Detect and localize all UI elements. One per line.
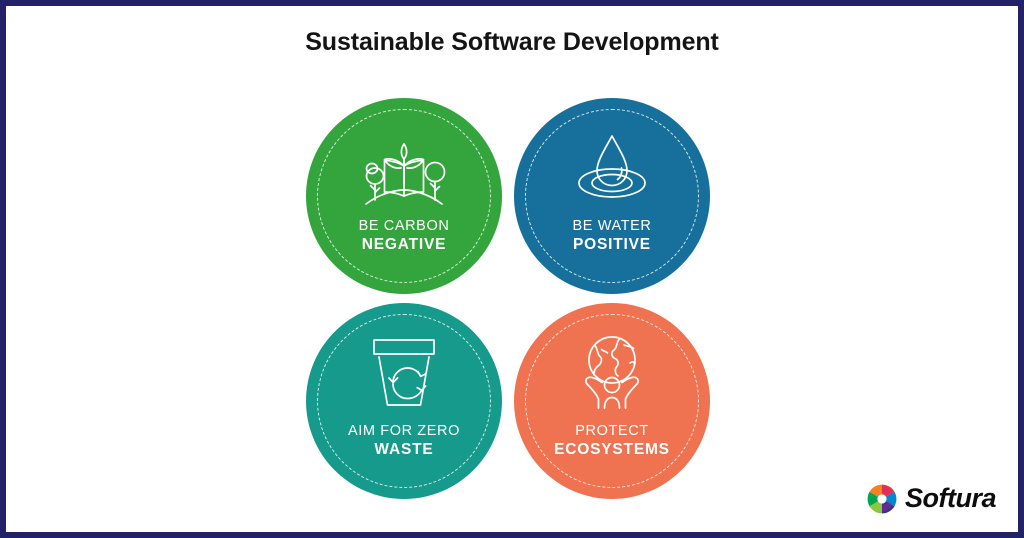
pillar-label-bottom: NEGATIVE [359,236,450,253]
pillar-label-bottom: ECOSYSTEMS [554,441,670,458]
pillar-labels: PROTECT ECOSYSTEMS [554,423,670,459]
pillars-grid: BE CARBON NEGATIVE BE WATER [300,92,716,502]
pillar-card-be-water-positive[interactable]: BE WATER POSITIVE [514,98,710,294]
softura-wordmark: Softura [905,483,996,514]
pillar-labels: AIM FOR ZERO WASTE [348,423,460,459]
pillar-label-bottom: POSITIVE [573,236,652,253]
pillar-card-aim-for-zero-waste[interactable]: AIM FOR ZERO WASTE [306,303,502,499]
pillar-label-bottom: WASTE [348,441,460,458]
softura-aperture-icon [867,484,897,514]
page-title: Sustainable Software Development [6,28,1018,57]
pillar-label-top: PROTECT [554,423,670,439]
pillar-labels: BE CARBON NEGATIVE [359,218,450,254]
pillar-label-top: AIM FOR ZERO [348,423,460,439]
water-droplet-ripple-icon [564,124,660,212]
book-sprout-trees-icon [356,124,452,212]
pillar-label-top: BE CARBON [359,218,450,234]
slide-canvas: Sustainable Software Development [0,0,1024,538]
pillar-card-be-carbon-negative[interactable]: BE CARBON NEGATIVE [306,98,502,294]
recycling-bin-icon [356,329,452,417]
pillar-labels: BE WATER POSITIVE [573,218,652,254]
pillar-card-protect-ecosystems[interactable]: PROTECT ECOSYSTEMS [514,303,710,499]
pillar-label-top: BE WATER [573,218,652,234]
softura-logo[interactable]: Softura [867,483,996,514]
hands-holding-globe-icon [564,329,660,417]
